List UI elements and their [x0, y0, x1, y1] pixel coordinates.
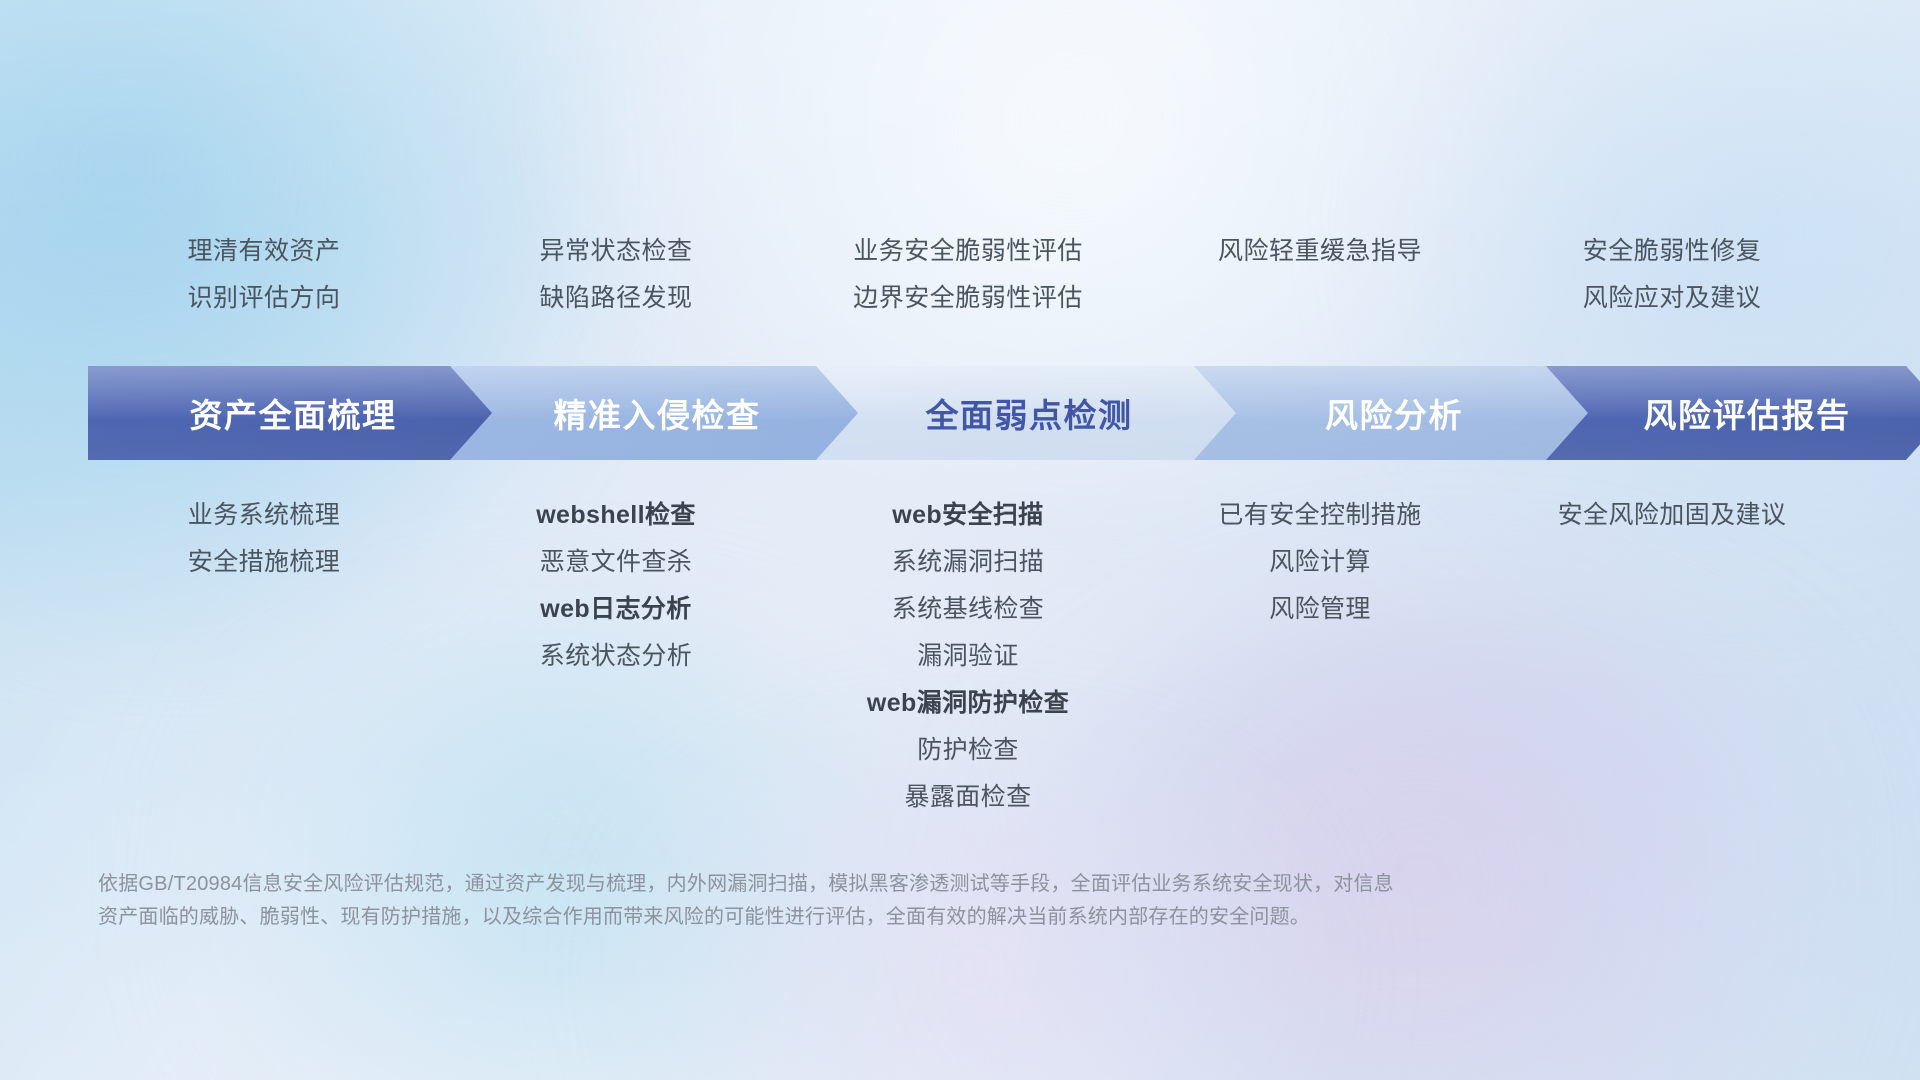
top-label-line: 安全脆弱性修复	[1496, 228, 1848, 275]
list-item: web漏洞防护检查	[792, 680, 1144, 727]
footer-line-1: 依据GB/T20984信息安全风险评估规范，通过资产发现与梳理，内外网漏洞扫描，…	[98, 868, 1658, 901]
diagram-content: 理清有效资产 识别评估方向 异常状态检查 缺陷路径发现 业务安全脆弱性评估 边界…	[0, 0, 1920, 1080]
list-item: 已有安全控制措施	[1144, 492, 1496, 539]
top-label-group-2: 异常状态检查 缺陷路径发现	[440, 228, 792, 322]
top-label-line: 缺陷路径发现	[440, 275, 792, 322]
stage-chevron-3[interactable]: 全面弱点检测	[816, 366, 1242, 460]
slide-canvas: 理清有效资产 识别评估方向 异常状态检查 缺陷路径发现 业务安全脆弱性评估 边界…	[0, 0, 1920, 1080]
bottom-list-row: 业务系统梳理 安全措施梳理 webshell检查 恶意文件查杀 web日志分析 …	[88, 492, 1848, 821]
top-label-line: 风险轻重缓急指导	[1144, 228, 1496, 275]
list-item: 安全风险加固及建议	[1496, 492, 1848, 539]
list-item: 风险计算	[1144, 539, 1496, 586]
bottom-list-group-5: 安全风险加固及建议	[1496, 492, 1848, 821]
process-chevron-band: 资产全面梳理 精准入侵检查 全面弱点检测 风险分析 风险评估报告	[88, 366, 1848, 460]
list-item: 系统状态分析	[440, 633, 792, 680]
stage-label: 资产全面梳理	[190, 389, 397, 437]
top-label-group-4: 风险轻重缓急指导	[1144, 228, 1496, 322]
stage-chevron-2[interactable]: 精准入侵检查	[450, 366, 864, 460]
top-label-group-1: 理清有效资产 识别评估方向	[88, 228, 440, 322]
top-label-line: 理清有效资产	[88, 228, 440, 275]
stage-chevron-1[interactable]: 资产全面梳理	[88, 366, 498, 460]
top-label-row: 理清有效资产 识别评估方向 异常状态检查 缺陷路径发现 业务安全脆弱性评估 边界…	[88, 228, 1848, 322]
list-item: 系统漏洞扫描	[792, 539, 1144, 586]
stage-chevron-4[interactable]: 风险分析	[1194, 366, 1594, 460]
bottom-list-group-3: web安全扫描 系统漏洞扫描 系统基线检查 漏洞验证 web漏洞防护检查 防护检…	[792, 492, 1144, 821]
list-item: 漏洞验证	[792, 633, 1144, 680]
bottom-list-group-1: 业务系统梳理 安全措施梳理	[88, 492, 440, 821]
top-label-line: 边界安全脆弱性评估	[792, 275, 1144, 322]
list-item: 防护检查	[792, 727, 1144, 774]
stage-label: 全面弱点检测	[926, 389, 1133, 437]
footer-description: 依据GB/T20984信息安全风险评估规范，通过资产发现与梳理，内外网漏洞扫描，…	[98, 868, 1658, 934]
list-item: web安全扫描	[792, 492, 1144, 539]
list-item: 风险管理	[1144, 586, 1496, 633]
footer-line-2: 资产面临的威胁、脆弱性、现有防护措施，以及综合作用而带来风险的可能性进行评估，全…	[98, 901, 1658, 934]
stage-label: 风险评估报告	[1644, 389, 1851, 437]
list-item: 安全措施梳理	[88, 539, 440, 586]
list-item: 系统基线检查	[792, 586, 1144, 633]
list-item: web日志分析	[440, 586, 792, 633]
stage-label: 精准入侵检查	[554, 389, 761, 437]
bottom-list-group-4: 已有安全控制措施 风险计算 风险管理	[1144, 492, 1496, 821]
top-label-line: 异常状态检查	[440, 228, 792, 275]
list-item: 暴露面检查	[792, 774, 1144, 821]
top-label-line: 风险应对及建议	[1496, 275, 1848, 322]
top-label-group-5: 安全脆弱性修复 风险应对及建议	[1496, 228, 1848, 322]
top-label-group-3: 业务安全脆弱性评估 边界安全脆弱性评估	[792, 228, 1144, 322]
list-item: webshell检查	[440, 492, 792, 539]
bottom-list-group-2: webshell检查 恶意文件查杀 web日志分析 系统状态分析	[440, 492, 792, 821]
stage-chevron-5[interactable]: 风险评估报告	[1546, 366, 1920, 460]
top-label-line: 识别评估方向	[88, 275, 440, 322]
list-item: 恶意文件查杀	[440, 539, 792, 586]
stage-label: 风险分析	[1325, 389, 1463, 437]
list-item: 业务系统梳理	[88, 492, 440, 539]
top-label-line: 业务安全脆弱性评估	[792, 228, 1144, 275]
